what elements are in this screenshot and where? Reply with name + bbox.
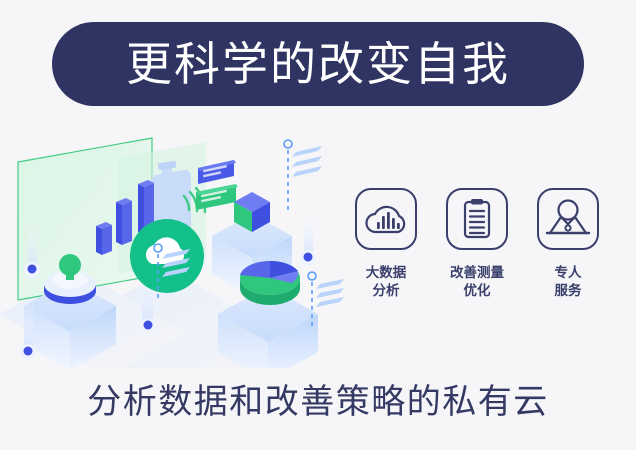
clipboard-icon: [457, 197, 497, 241]
feature-list: 大数据 分析 改善测量 优化: [348, 188, 606, 300]
feature-item-service[interactable]: 专人 服务: [530, 188, 606, 300]
pie-chart-3d: [240, 261, 300, 305]
feature-item-big-data[interactable]: 大数据 分析: [348, 188, 424, 300]
hero-illustration: [0, 118, 360, 368]
feature-label-service: 专人 服务: [555, 264, 582, 300]
feature-frame-big-data: [355, 188, 417, 250]
feature-label-measurement: 改善测量 优化: [450, 264, 504, 300]
title-banner: 更科学的改变自我: [52, 22, 584, 106]
feature-frame-service: [537, 188, 599, 250]
feature-item-measurement[interactable]: 改善测量 优化: [439, 188, 515, 300]
poster-canvas: 更科学的改变自我: [0, 0, 636, 450]
service-person-icon: [544, 197, 592, 241]
feature-label-big-data: 大数据 分析: [366, 264, 407, 300]
page-title: 更科学的改变自我: [126, 41, 510, 87]
page-subtitle: 分析数据和改善策略的私有云: [0, 385, 636, 419]
feature-frame-measurement: [446, 188, 508, 250]
cloud-chart-icon: [364, 199, 408, 239]
